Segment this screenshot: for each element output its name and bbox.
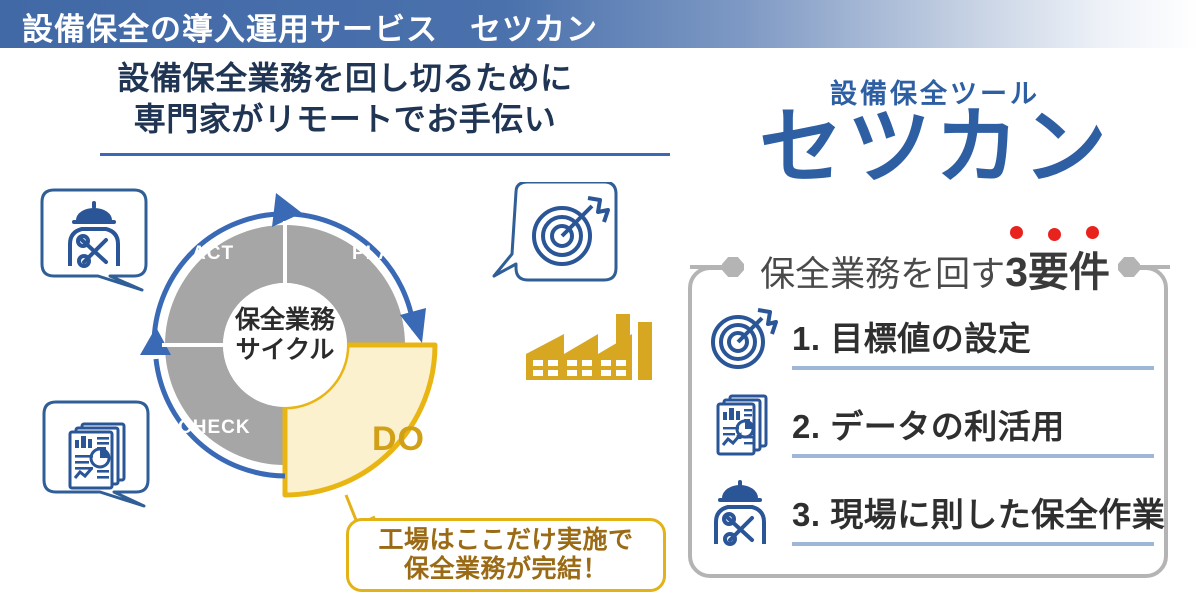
do-callout-box: 工場はここだけ実施で 保全業務が完結！	[346, 518, 666, 592]
worker-tools-icon	[706, 478, 778, 555]
requirement-label-1: 1. 目標値の設定	[792, 312, 1031, 360]
cycle-label-check: CHECK	[178, 417, 251, 439]
requirement-underline-3	[792, 542, 1154, 546]
bubble-worker-tools	[36, 186, 168, 299]
infographic-canvas: 設備保全の導入運用サービス セツカン 設備保全業務を回し切るために 専門家がリモ…	[0, 0, 1200, 600]
requirement-num-3: 3.	[792, 496, 821, 533]
header-bar: 設備保全の導入運用サービス セツカン	[0, 0, 1200, 48]
callout-line-1: 工場はここだけ実施で	[378, 526, 633, 555]
lead-line-2: 専門家がリモートでお手伝い	[0, 99, 690, 140]
requirements-title: 保全業務を回す3要件	[700, 238, 1170, 298]
lead-underline	[100, 153, 670, 156]
requirement-underline-1	[792, 366, 1154, 370]
report-documents-icon	[706, 390, 778, 467]
requirement-name-2: データの利活用	[830, 408, 1065, 445]
requirement-label-2: 2. データの利活用	[792, 400, 1065, 448]
callout-line-2: 保全業務が完結！	[404, 555, 608, 584]
cycle-label-plan: PLAN	[352, 243, 408, 265]
requirement-item-3[interactable]: 3. 現場に則した保全作業	[706, 476, 1154, 558]
target-dart-icon	[706, 302, 778, 379]
left-lead-heading: 設備保全業務を回し切るために 専門家がリモートでお手伝い	[0, 58, 690, 140]
cycle-label-do: DO	[372, 420, 425, 459]
lead-line-1: 設備保全業務を回し切るために	[0, 58, 690, 99]
bubble-documents	[40, 398, 168, 515]
report-documents-icon	[70, 424, 124, 488]
cycle-center-line-2: サイクル	[210, 335, 360, 365]
brand-name: セツカン	[700, 103, 1170, 191]
cycle-center-line-1: 保全業務	[210, 305, 360, 335]
requirement-underline-2	[792, 454, 1154, 458]
requirements-title-plain: 保全業務を回す	[760, 255, 1005, 294]
header-title: 設備保全の導入運用サービス セツカン	[22, 4, 598, 49]
requirement-name-1: 目標値の設定	[830, 320, 1031, 357]
cycle-center-label: 保全業務 サイクル	[210, 305, 360, 365]
requirement-item-1[interactable]: 1. 目標値の設定	[706, 300, 1154, 382]
requirement-label-3: 3. 現場に則した保全作業	[792, 488, 1165, 536]
factory-icon	[520, 310, 660, 395]
cycle-label-act: ACT	[192, 243, 234, 265]
requirement-item-2[interactable]: 2. データの利活用	[706, 388, 1154, 470]
requirements-title-strong: 3要件	[1005, 249, 1110, 295]
requirement-num-1: 1.	[792, 320, 821, 357]
requirement-name-3: 現場に則した保全作業	[830, 496, 1165, 533]
requirement-num-2: 2.	[792, 408, 821, 445]
bubble-target	[492, 182, 620, 299]
